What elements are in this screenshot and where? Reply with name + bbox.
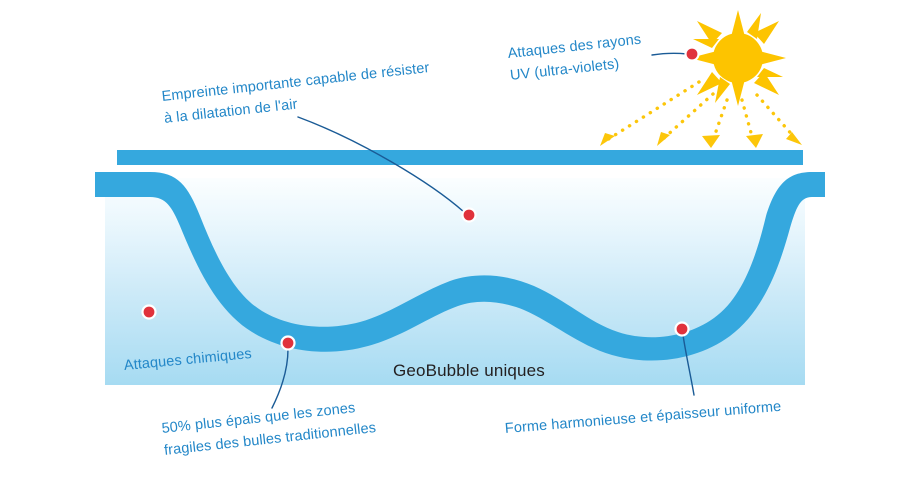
marker-uv [686,48,699,61]
pool-cover-bar-icon [117,150,803,165]
marker-empreinte [463,209,476,222]
uv-ray-arrowheads [600,132,802,148]
geobubble-center-label: GeoBubble uniques [393,361,545,381]
marker-forme [676,323,689,336]
sun-icon [690,10,786,106]
marker-chimiques [143,306,156,319]
marker-epais [282,337,295,350]
diagram-canvas: Empreinte importante capable de résister… [0,0,920,485]
artwork-layer [0,0,920,485]
leader-line-uv [652,53,687,55]
